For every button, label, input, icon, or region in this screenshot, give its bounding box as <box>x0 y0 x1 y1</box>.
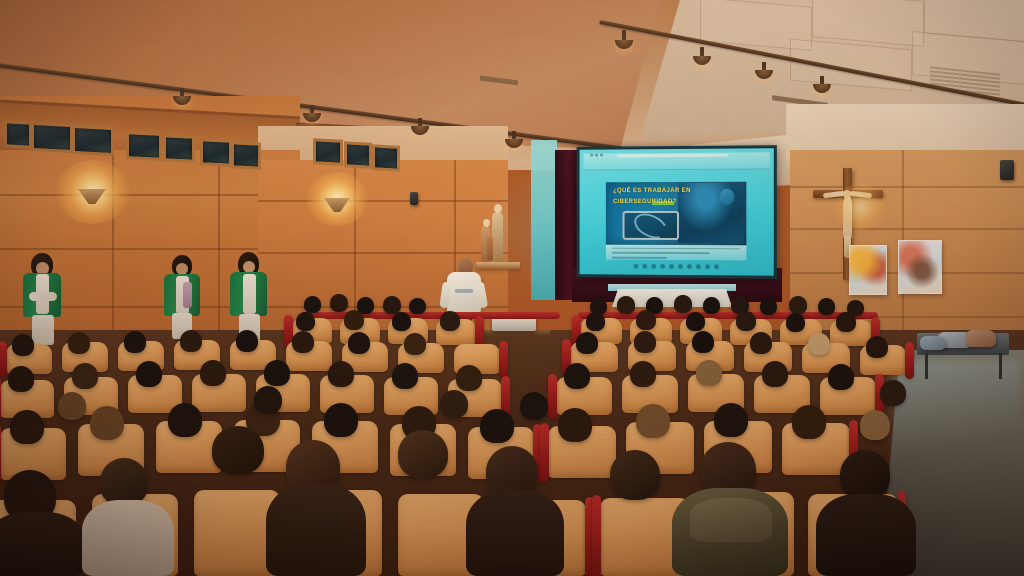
statue-shelf <box>476 262 520 269</box>
presenter-shirt-logo <box>455 289 473 293</box>
teal-lit-side-wall <box>531 140 557 300</box>
ceiling-table-projector <box>492 318 536 331</box>
slide-caption-text <box>606 244 746 260</box>
track-lamp-5 <box>622 30 626 42</box>
wall-sconce-right-glow <box>832 184 888 230</box>
track-lamp-1 <box>180 88 184 98</box>
statue-figure-joseph <box>492 212 503 262</box>
track-lamp-2 <box>310 105 314 115</box>
framed-art-panel-2 <box>31 122 73 153</box>
framed-art-panel-10 <box>372 144 400 171</box>
track-lamp-8 <box>820 76 824 86</box>
wall-speaker-right <box>1000 160 1014 180</box>
statue-head-joseph <box>494 204 502 213</box>
framed-art-panel-4 <box>126 131 162 161</box>
browser-address-bar <box>616 153 728 157</box>
slide-title-line-1: ¿QUÉ ES TRABAJAR EN <box>613 188 691 195</box>
projection-screen[interactable]: ¿QUÉ ES TRABAJAR EN CIBERSEGURIDAD? <box>577 145 777 279</box>
player-toolbar-icons[interactable] <box>599 261 754 273</box>
slide-person-head <box>720 189 734 205</box>
staff-green-vest-3-shirt <box>243 274 256 314</box>
framed-art-panel-1 <box>4 120 32 148</box>
framed-art-panel-7 <box>231 141 261 170</box>
framed-art-panel-9 <box>344 141 372 168</box>
art-poster-right <box>898 240 942 294</box>
art-poster-left <box>849 245 887 295</box>
framed-art-panel-5 <box>163 134 195 163</box>
wall-speaker-left <box>410 192 418 205</box>
slide-title-line-2: CIBERSEGURIDAD? <box>613 199 677 206</box>
track-lamp-7 <box>762 62 766 72</box>
projection-screen-surface: ¿QUÉ ES TRABAJAR EN CIBERSEGURIDAD? <box>580 148 774 276</box>
framed-art-panel-3 <box>72 125 114 156</box>
framed-art-panel-6 <box>200 138 232 167</box>
staff-green-vest-2-scarf <box>183 282 192 308</box>
browser-window-bar <box>583 152 769 171</box>
track-lamp-6 <box>700 47 704 58</box>
statue-figure-child <box>487 236 493 261</box>
track-lamp-3 <box>418 118 422 128</box>
browser-dots <box>591 154 604 157</box>
staff-green-vest-1-trousers <box>32 315 54 345</box>
bench-leg-right <box>999 353 1002 379</box>
bag-tertiary <box>920 336 946 350</box>
presentation-video-frame: ¿QUÉ ES TRABAJAR EN CIBERSEGURIDAD? <box>606 181 746 245</box>
statue-head-mary <box>483 219 490 227</box>
hoodie-hood <box>690 498 772 542</box>
bag-secondary <box>966 330 996 347</box>
bench-leg-left <box>925 353 928 379</box>
framed-art-panel-8 <box>313 138 343 166</box>
auditorium-photo: ¿QUÉ ES TRABAJAR EN CIBERSEGURIDAD? <box>0 0 1024 576</box>
staff-green-vest-1-arms-crossed <box>29 292 57 301</box>
track-lamp-4 <box>512 131 516 141</box>
